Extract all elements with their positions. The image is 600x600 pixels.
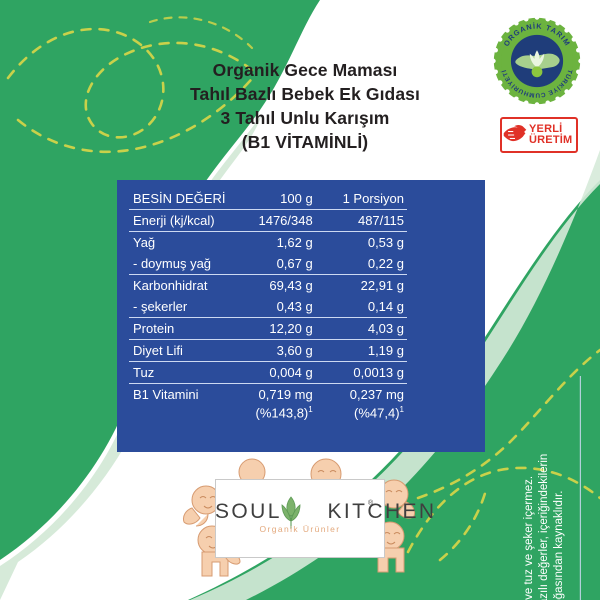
yerli-uretim-text: YERLİ ÜRETİM (528, 124, 572, 147)
product-title-line-1: Organik Gece Maması (110, 58, 500, 82)
nutrition-row-label: Diyet Lifi (129, 340, 225, 362)
nutrition-table: BESİN DEĞERİ 100 g 1 Porsiyon Enerji (kj… (129, 188, 407, 423)
nutrition-row-per-100g: 0,719 mg (225, 384, 312, 406)
product-label-canvas: Organik Gece Maması Tahıl Bazlı Bebek Ek… (0, 0, 600, 600)
nutrition-row-per-100g: 0,004 g (225, 362, 312, 384)
nutrition-table-header-row: BESİN DEĞERİ 100 g 1 Porsiyon (129, 188, 407, 210)
handshake-icon (502, 119, 528, 151)
nutrition-row-label: Tuz (129, 362, 225, 384)
product-title-line-3: 3 Tahıl Unlu Karışım (110, 106, 500, 130)
nutrition-row-per-portion: 1,19 g (313, 340, 407, 362)
nutrition-row-per-portion: 4,03 g (313, 318, 407, 340)
logo-registered-mark: ® (368, 500, 373, 507)
nutrition-row: Tuz0,004 g0,0013 g (129, 362, 407, 384)
brand-logo: SOUL KITCHEN ® Organik Ürünler (180, 462, 420, 580)
nutrition-facts-panel: BESİN DEĞERİ 100 g 1 Porsiyon Enerji (kj… (117, 180, 485, 452)
nutrition-row: Diyet Lifi3,60 g1,19 g (129, 340, 407, 362)
footnote-marker: 1 (308, 405, 312, 414)
nutrition-row-per-100g: 12,20 g (225, 318, 312, 340)
nutrition-row-label: Enerji (kj/kcal) (129, 210, 225, 232)
product-title: Organik Gece Maması Tahıl Bazlı Bebek Ek… (110, 58, 500, 154)
nutrition-row-per-portion: 0,22 g (313, 253, 407, 275)
nutrition-row: Enerji (kj/kcal)1476/348487/115 (129, 210, 407, 232)
nutrition-row: (%143,8)1(%47,4)1 (129, 405, 407, 423)
nutrition-row: Karbonhidrat69,43 g22,91 g (129, 275, 407, 297)
nutrition-row-per-100g: 0,67 g (225, 253, 312, 275)
nutrition-row: B1 Vitamini0,719 mg0,237 mg (129, 384, 407, 406)
yerli-uretim-badge: YERLİ ÜRETİM (500, 117, 578, 153)
nutrition-note-main: İlave tuz ve şeker içermez. Yazılı değer… (522, 382, 567, 600)
nutrition-row-per-100g: 0,43 g (225, 296, 312, 318)
nutrition-row-label (129, 405, 225, 423)
nutrition-row: - şekerler0,43 g0,14 g (129, 296, 407, 318)
nutrition-row-label: Karbonhidrat (129, 275, 225, 297)
footnote-marker: 1 (400, 405, 404, 414)
nutrition-row-per-portion: 0,14 g (313, 296, 407, 318)
nutrition-row-per-portion: (%47,4)1 (313, 405, 407, 423)
logo-word-right: KITCHEN (328, 500, 437, 523)
nutrition-row: Protein12,20 g4,03 g (129, 318, 407, 340)
product-title-line-2: Tahıl Bazlı Bebek Ek Gıdası (110, 82, 500, 106)
nutrition-row: - doymuş yağ0,67 g0,22 g (129, 253, 407, 275)
header-per-portion: 1 Porsiyon (313, 188, 407, 210)
logo-word-left: SOUL (215, 500, 281, 523)
nutrition-row-label: B1 Vitamini (129, 384, 225, 406)
organic-certification-badge: ORGANİK TARIM TÜRKİYE CUMHURİYETİ (492, 16, 582, 106)
nutrition-row-label: - şekerler (129, 296, 225, 318)
nutrition-row-per-100g: 69,43 g (225, 275, 312, 297)
nutrition-row-per-portion: 22,91 g (313, 275, 407, 297)
nutrition-row-per-portion: 0,0013 g (313, 362, 407, 384)
nutrition-row-per-portion: 0,237 mg (313, 384, 407, 406)
nutrition-row-label: Yağ (129, 232, 225, 254)
nutrition-row-per-100g: 1476/348 (225, 210, 312, 232)
header-per-100g: 100 g (225, 188, 312, 210)
nutrition-row-per-100g: (%143,8)1 (225, 405, 312, 423)
header-nutrient: BESİN DEĞERİ (129, 188, 225, 210)
nutrition-row-per-portion: 0,53 g (313, 232, 407, 254)
nutrition-note-brd: 1Beslenme Referans Değeri (BRD) (580, 376, 600, 600)
nutrition-row-per-portion: 487/115 (313, 210, 407, 232)
nutrition-row-label: Protein (129, 318, 225, 340)
nutrition-row-per-100g: 1,62 g (225, 232, 312, 254)
nutrition-row: Yağ1,62 g0,53 g (129, 232, 407, 254)
yerli-line-2: ÜRETİM (529, 135, 572, 147)
nutrition-row-per-100g: 3,60 g (225, 340, 312, 362)
product-title-line-4: (B1 VİTAMİNLİ) (110, 130, 500, 154)
nutrition-row-label: - doymuş yağ (129, 253, 225, 275)
logo-tagline: Organik Ürünler (215, 524, 385, 534)
nutrition-table-body: BESİN DEĞERİ 100 g 1 Porsiyon Enerji (kj… (129, 188, 407, 423)
